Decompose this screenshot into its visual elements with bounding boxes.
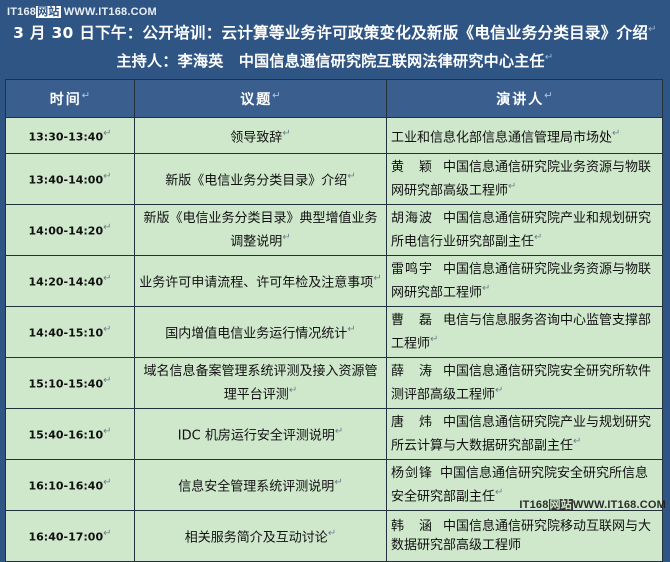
title-line-2-text: 主持人：李海英 中国信息通信研究院互联网法律研究中心主任 (116, 52, 544, 70)
cell-speaker-name: 唐 炜 (391, 415, 433, 430)
pilcrow-icon: ↵ (272, 90, 280, 101)
cell-topic: 国内增值电信业务运行情况统计↵ (135, 307, 387, 358)
cell-speaker: 唐 炜中国信息通信研究院产业与规划研究所云计算与大数据研究部副主任↵ (387, 409, 663, 460)
cell-time: 15:40-16:10↵ (6, 409, 135, 460)
cell-time: 15:10-15:40↵ (6, 358, 135, 409)
cell-time: 13:30-13:40↵ (6, 118, 135, 154)
pilcrow-icon: ↵ (328, 528, 336, 539)
pilcrow-icon: ↵ (482, 283, 490, 294)
pilcrow-icon: ↵ (103, 324, 111, 335)
cell-topic-value: 业务许可申请流程、许可年检及注意事项 (139, 276, 373, 291)
cell-time-value: 13:40-14:00 (29, 174, 104, 187)
agenda-table-wrapper: 时间↵ 议题↵ 演讲人↵ 13:30-13:40↵ 领导致辞↵ 工业和信息化部信… (5, 79, 662, 562)
table-row: 14:00-14:20↵ 新版《电信业务分类目录》典型增值业务调整说明↵ 胡海波… (6, 205, 663, 256)
column-header-time-label: 时间 (50, 92, 82, 108)
pilcrow-icon: ↵ (103, 426, 111, 437)
cell-time-value: 14:20-14:40 (29, 276, 104, 289)
cell-topic: 信息安全管理系统评测说明↵ (135, 460, 387, 511)
pilcrow-icon: ↵ (508, 181, 516, 192)
watermark-top-prefix: IT168 (7, 6, 36, 18)
column-header-topic: 议题↵ (135, 80, 387, 118)
table-row: 14:20-14:40↵ 业务许可申请流程、许可年检及注意事项↵ 雷鸣宇中国信息… (6, 256, 663, 307)
cell-speaker-name: 杨剑锋 (391, 466, 433, 481)
pilcrow-icon: ↵ (544, 90, 552, 101)
pilcrow-icon: ↵ (545, 52, 554, 63)
pilcrow-icon: ↵ (373, 273, 381, 284)
cell-topic-value: 领导致辞 (230, 130, 282, 145)
cell-speaker-name: 曹 磊 (391, 313, 433, 328)
cell-topic: 相关服务简介及互动讨论↵ (135, 511, 387, 562)
cell-speaker-name: 雷鸣宇 (391, 262, 433, 277)
cell-speaker: 曹 磊电信与信息服务咨询中心监管支撑部工程师↵ (387, 307, 663, 358)
cell-time: 14:00-14:20↵ (6, 205, 135, 256)
table-row: 16:10-16:40↵ 信息安全管理系统评测说明↵ 杨剑锋中国信息通信研究院安… (6, 460, 663, 511)
cell-time-value: 15:10-15:40 (29, 378, 104, 391)
table-row: 14:40-15:10↵ 国内增值电信业务运行情况统计↵ 曹 磊电信与信息服务咨… (6, 307, 663, 358)
cell-time-value: 14:40-15:10 (29, 327, 104, 340)
title-line-1-text: 3 月 30 日下午：公开培训：云计算等业务许可政策变化及新版《电信业务分类目录… (13, 24, 648, 42)
cell-topic-value: 国内增值电信业务运行情况统计 (165, 327, 347, 342)
pilcrow-icon: ↵ (103, 528, 111, 539)
column-header-time: 时间↵ (6, 80, 135, 118)
cell-topic-value: IDC 机房运行安全评测说明 (178, 429, 335, 444)
table-row: 13:30-13:40↵ 领导致辞↵ 工业和信息化部信息通信管理局市场处↵ (6, 118, 663, 154)
pilcrow-icon: ↵ (103, 171, 111, 182)
cell-time: 14:20-14:40↵ (6, 256, 135, 307)
cell-speaker: 胡海波中国信息通信研究院产业和规划研究所电信行业研究部副主任↵ (387, 205, 663, 256)
watermark-top-suffix: WWW.IT168.COM (61, 6, 157, 18)
pilcrow-icon: ↵ (103, 222, 111, 233)
cell-time: 16:10-16:40↵ (6, 460, 135, 511)
watermark-top: IT168网站 WWW.IT168.COM (7, 3, 157, 19)
cell-speaker-name: 黄 颖 (391, 160, 433, 175)
pilcrow-icon: ↵ (347, 324, 355, 335)
pilcrow-icon: ↵ (534, 232, 542, 243)
cell-time-value: 16:10-16:40 (29, 480, 104, 493)
column-header-topic-label: 议题 (240, 92, 272, 108)
cell-speaker: 工业和信息化部信息通信管理局市场处↵ (387, 118, 663, 154)
cell-speaker-org: 工业和信息化部信息通信管理局市场处 (391, 130, 612, 145)
column-header-speaker-label: 演讲人 (496, 92, 544, 108)
slide-page: IT168网站 WWW.IT168.COM 3 月 30 日下午：公开培训：云计… (0, 0, 670, 523)
cell-time: 13:40-14:00↵ (6, 154, 135, 205)
pilcrow-icon: ↵ (495, 385, 503, 396)
table-row: 15:40-16:10↵ IDC 机房运行安全评测说明↵ 唐 炜中国信息通信研究… (6, 409, 663, 460)
title-block: 3 月 30 日下午：公开培训：云计算等业务许可政策变化及新版《电信业务分类目录… (0, 18, 670, 74)
cell-time: 16:40-17:00↵ (6, 511, 135, 562)
pilcrow-icon: ↵ (282, 232, 290, 243)
pilcrow-icon: ↵ (103, 273, 111, 284)
pilcrow-icon: ↵ (573, 436, 581, 447)
cell-topic-value: 新版《电信业务分类目录》介绍 (165, 174, 347, 189)
cell-topic: 领导致辞↵ (135, 118, 387, 154)
cell-speaker: 韩 涵中国信息通信研究院移动互联网与大数据研究部高级工程师 (387, 511, 663, 562)
cell-topic: 新版《电信业务分类目录》典型增值业务调整说明↵ (135, 205, 387, 256)
cell-time-value: 15:40-16:10 (29, 429, 104, 442)
pilcrow-icon: ↵ (103, 128, 111, 139)
cell-speaker-name: 薛 涛 (391, 364, 433, 379)
title-line-1: 3 月 30 日下午：公开培训：云计算等业务许可政策变化及新版《电信业务分类目录… (0, 18, 670, 45)
cell-topic: 域名信息备案管理系统评测及接入资源管理平台评测↵ (135, 358, 387, 409)
cell-topic-value: 域名信息备案管理系统评测及接入资源管理平台评测 (143, 364, 377, 402)
pilcrow-icon: ↵ (289, 385, 297, 396)
pilcrow-icon: ↵ (648, 24, 657, 35)
cell-time-value: 13:30-13:40 (29, 130, 104, 143)
pilcrow-icon: ↵ (495, 487, 503, 498)
cell-time-value: 14:00-14:20 (29, 225, 104, 238)
pilcrow-icon: ↵ (430, 334, 438, 345)
cell-time-value: 16:40-17:00 (29, 531, 104, 544)
cell-speaker-name: 胡海波 (391, 211, 433, 226)
cell-topic-value: 信息安全管理系统评测说明 (178, 480, 334, 495)
pilcrow-icon: ↵ (103, 375, 111, 386)
column-header-speaker: 演讲人↵ (387, 80, 663, 118)
table-row: 13:40-14:00↵ 新版《电信业务分类目录》介绍↵ 黄 颖中国信息通信研究… (6, 154, 663, 205)
table-header-row: 时间↵ 议题↵ 演讲人↵ (6, 80, 663, 118)
cell-topic-value: 新版《电信业务分类目录》典型增值业务调整说明 (143, 211, 377, 249)
cell-topic: IDC 机房运行安全评测说明↵ (135, 409, 387, 460)
watermark-top-inverse: 网站 (36, 6, 60, 18)
agenda-table: 时间↵ 议题↵ 演讲人↵ 13:30-13:40↵ 领导致辞↵ 工业和信息化部信… (5, 79, 663, 562)
cell-speaker-name: 韩 涵 (391, 519, 433, 534)
pilcrow-icon: ↵ (282, 128, 290, 139)
cell-time: 14:40-15:10↵ (6, 307, 135, 358)
cell-speaker: 黄 颖中国信息通信研究院业务资源与物联网研究部高级工程师↵ (387, 154, 663, 205)
cell-speaker: 雷鸣宇中国信息通信研究院业务资源与物联网研究部工程师↵ (387, 256, 663, 307)
title-line-2: 主持人：李海英 中国信息通信研究院互联网法律研究中心主任↵ (0, 45, 670, 74)
pilcrow-icon: ↵ (335, 426, 343, 437)
table-row: 15:10-15:40↵ 域名信息备案管理系统评测及接入资源管理平台评测↵ 薛 … (6, 358, 663, 409)
cell-topic: 新版《电信业务分类目录》介绍↵ (135, 154, 387, 205)
cell-topic-value: 相关服务简介及互动讨论 (185, 531, 328, 546)
pilcrow-icon: ↵ (347, 171, 355, 182)
pilcrow-icon: ↵ (612, 128, 620, 139)
cell-speaker: 薛 涛中国信息通信研究院安全研究所软件测评部高级工程师↵ (387, 358, 663, 409)
cell-topic: 业务许可申请流程、许可年检及注意事项↵ (135, 256, 387, 307)
cell-speaker: 杨剑锋中国信息通信研究院安全研究所信息安全研究部副主任↵ (387, 460, 663, 511)
pilcrow-icon: ↵ (82, 90, 90, 101)
pilcrow-icon: ↵ (103, 477, 111, 488)
pilcrow-icon: ↵ (334, 477, 342, 488)
table-row: 16:40-17:00↵ 相关服务简介及互动讨论↵ 韩 涵中国信息通信研究院移动… (6, 511, 663, 562)
